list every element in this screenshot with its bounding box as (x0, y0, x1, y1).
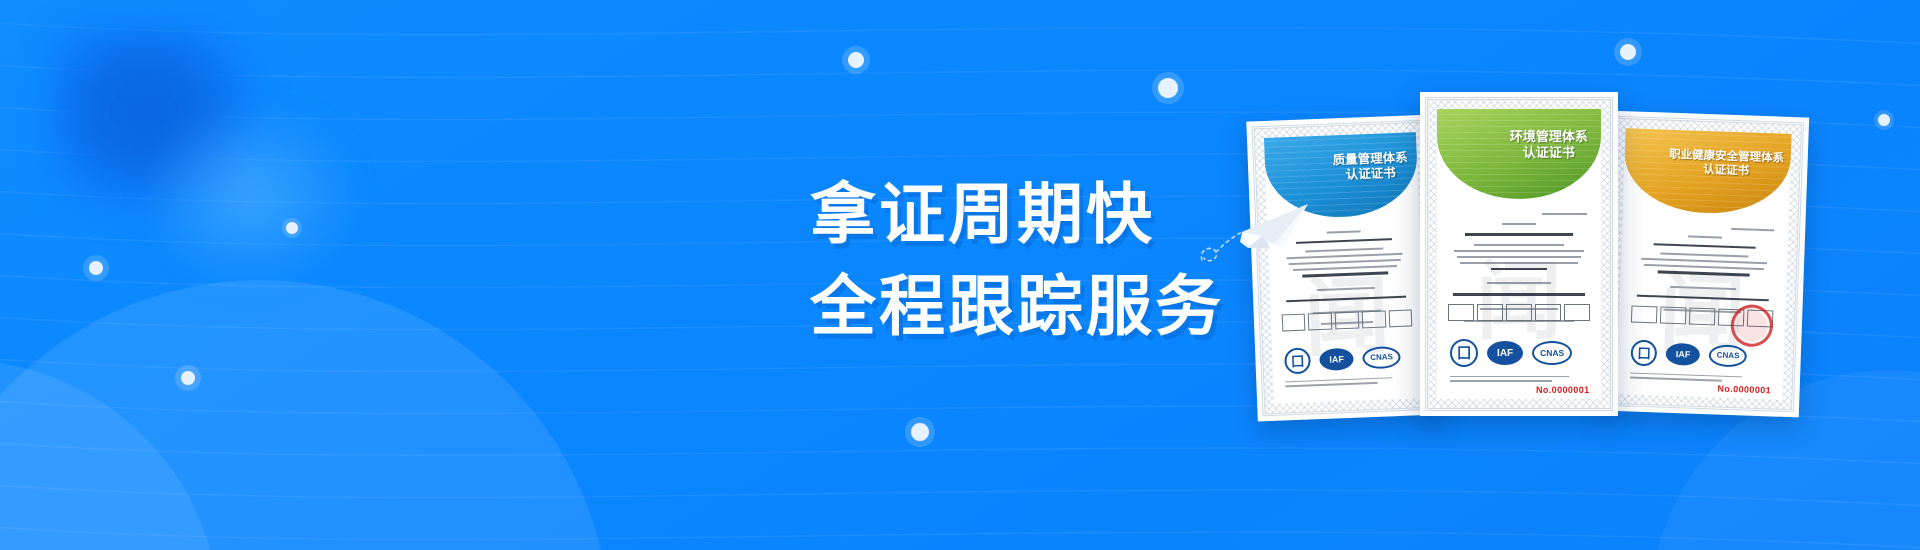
glow-light-decoration (150, 110, 350, 280)
dot-particle (848, 52, 864, 68)
certificate-seals: 囗 IAF CNAS (1631, 339, 1748, 369)
certificate-audit-boxes (1281, 310, 1412, 332)
certificate-environment[interactable]: 环境管理体系 认证证书 闻 (1420, 92, 1618, 416)
dot-particle (1620, 44, 1636, 60)
headline-line-1: 拿证周期快 (810, 168, 1224, 260)
iaf-seal-icon: IAF (1487, 341, 1523, 365)
certificate-title-line-1: 环境管理体系 (1510, 129, 1588, 145)
paper-plane-icon (1196, 186, 1326, 276)
certificate-footer (1285, 376, 1413, 390)
cnas-seal-icon: CNAS (1532, 341, 1572, 365)
dot-particle (286, 222, 298, 234)
cnas-seal-icon: CNAS (1362, 346, 1401, 369)
dot-particle (1158, 78, 1178, 98)
headline-line-2: 全程跟踪服务 (810, 260, 1224, 352)
cnca-seal-icon: 囗 (1631, 339, 1658, 366)
certificate-number: No.0000001 (1717, 384, 1771, 396)
certificate-seals: 囗 IAF CNAS (1450, 339, 1572, 367)
certificate-header: 职业健康安全管理体系 认证证书 (1623, 128, 1792, 216)
certificate-group: 质量管理体系 认证证书 闻 (1252, 92, 1892, 472)
dot-particle (911, 423, 929, 441)
certificate-header: 环境管理体系 认证证书 (1437, 109, 1601, 199)
promo-banner: 拿证周期快 全程跟踪服务 (0, 0, 1920, 550)
cnca-seal-icon: 囗 (1450, 339, 1478, 367)
dot-particle (89, 261, 103, 275)
iaf-seal-icon: IAF (1666, 342, 1701, 365)
certificate-number: No.0000001 (1536, 385, 1590, 395)
certificate-seals: 囗 IAF CNAS (1284, 344, 1401, 374)
cnca-seal-icon: 囗 (1284, 347, 1311, 374)
certificate-footer (1450, 376, 1588, 385)
cnas-seal-icon: CNAS (1709, 344, 1748, 367)
dot-particle (181, 371, 195, 385)
certificate-occupational[interactable]: 职业健康安全管理体系 认证证书 闻 (1599, 111, 1809, 418)
iaf-seal-icon: IAF (1319, 347, 1354, 370)
headline: 拿证周期快 全程跟踪服务 (810, 168, 1224, 352)
certificate-title-line-2: 认证证书 (1333, 166, 1409, 184)
certificate-audit-boxes (1448, 304, 1589, 321)
certificate-title-line-2: 认证证书 (1510, 145, 1588, 161)
